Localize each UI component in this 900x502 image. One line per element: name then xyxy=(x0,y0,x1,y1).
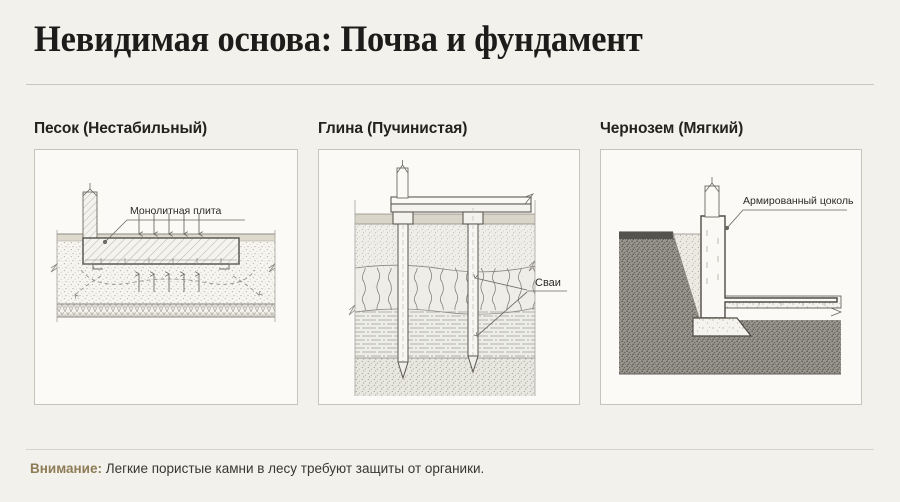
column-heading-clay: Глина (Пучинистая) xyxy=(318,120,580,138)
panel-row: Песок (Нестабильный) xyxy=(0,0,900,502)
footnote-warning-label: Внимание: xyxy=(30,461,102,476)
slide: Невидимая основа: Почва и фундамент Песо… xyxy=(0,0,900,502)
callout-label-chernozem: Армированный цоколь xyxy=(743,195,854,207)
footnote-text: Легкие пористые камни в лесу требуют защ… xyxy=(102,461,484,476)
callout-label-clay: Сваи xyxy=(535,277,561,289)
column-heading-sand: Песок (Нестабильный) xyxy=(34,120,298,138)
diagram-panel-sand[interactable]: Монолитная плита xyxy=(34,149,298,405)
column-heading-chernozem: Чернозем (Мягкий) xyxy=(600,120,862,138)
piles-in-heaving-clay-diagram: Сваи xyxy=(319,150,579,404)
footnote: Внимание: Легкие пористые камни в лесу т… xyxy=(30,461,484,476)
diagram-panel-chernozem[interactable]: Армированный цоколь xyxy=(600,149,862,405)
callout-label-sand: Монолитная плита xyxy=(130,205,222,217)
reinforced-plinth-diagram: Армированный цоколь xyxy=(601,150,861,404)
diagram-panel-clay[interactable]: Сваи xyxy=(318,149,580,405)
column-sand: Песок (Нестабильный) xyxy=(34,120,298,405)
column-chernozem: Чернозем (Мягкий) xyxy=(600,120,862,405)
column-clay: Глина (Пучинистая) xyxy=(318,120,580,405)
monolithic-slab-on-sand-diagram: Монолитная плита xyxy=(35,150,297,404)
footer-divider xyxy=(26,449,874,450)
